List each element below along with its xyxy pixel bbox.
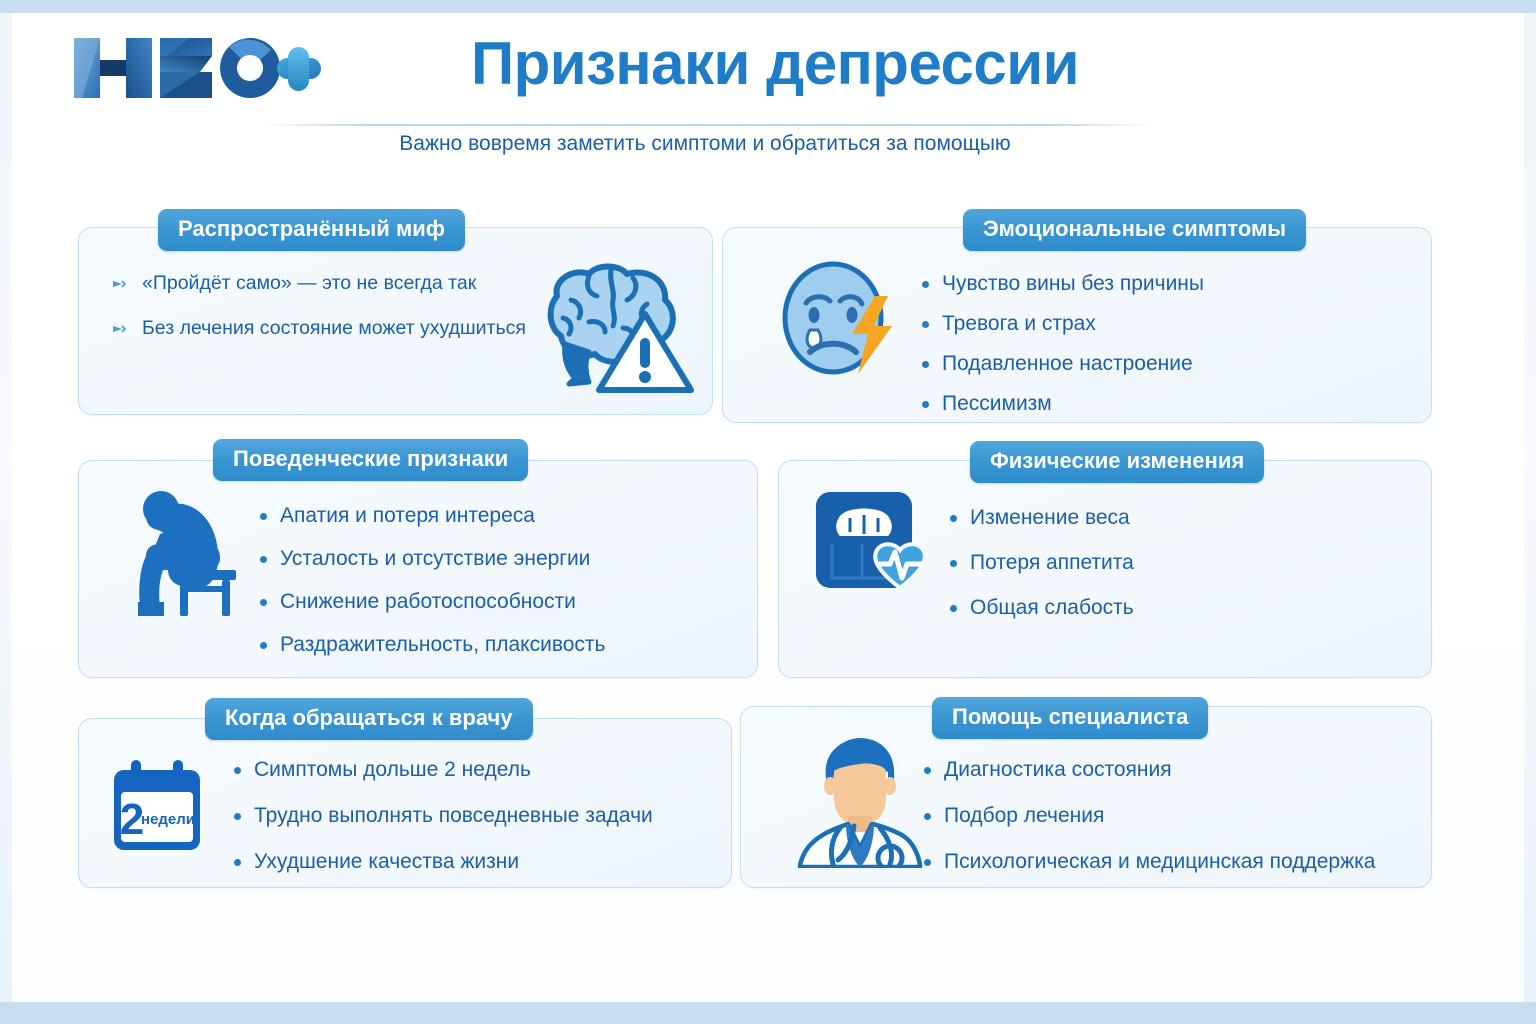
bullet-dot-icon xyxy=(922,361,929,368)
card-emotional-icon xyxy=(780,256,900,386)
bullet-dot-icon xyxy=(950,515,957,522)
list-item: Общая слабость xyxy=(948,596,1134,620)
neo-plus-logo-icon xyxy=(72,32,322,104)
list-item-text: Трудно выполнять повседневные задачи xyxy=(254,804,653,827)
bullet-dot-icon xyxy=(924,859,931,866)
bullet-dot-icon xyxy=(234,859,241,866)
brain-warning-icon xyxy=(527,256,697,396)
card-myth-badge: Распространённый миф xyxy=(158,209,465,251)
list-item-text: Усталость и отсутствие энергии xyxy=(280,547,590,570)
bullet-dot-icon xyxy=(924,813,931,820)
doctor-icon xyxy=(790,736,925,868)
list-item: Пессимизм xyxy=(920,392,1204,416)
list-item-text: Апатия и потеря интереса xyxy=(280,504,535,527)
bullet-dot-icon xyxy=(234,767,241,774)
list-item-text: Раздражительность, плаксивость xyxy=(280,633,606,656)
title-divider xyxy=(262,124,1152,126)
infographic-page: Признаки депрессии Важно вовремя заметит… xyxy=(0,0,1536,1024)
list-item-text: Пессимизм xyxy=(942,392,1052,415)
top-band xyxy=(0,0,1536,13)
bullet-dot-icon xyxy=(922,321,929,328)
list-item: Раздражительность, плаксивость xyxy=(258,633,606,657)
list-item: Снижение работоспособности xyxy=(258,590,606,614)
card-when-to-see-doctor-icon: 2 недели xyxy=(104,758,214,863)
calendar-unit: недели xyxy=(141,811,195,828)
right-band xyxy=(1524,13,1536,1002)
list-item: Усталость и отсутствие энергии xyxy=(258,547,606,571)
list-item-text: Изменение веса xyxy=(970,506,1130,529)
list-item: Апатия и потеря интереса xyxy=(258,504,606,528)
bullet-dot-icon xyxy=(234,813,241,820)
card-physical-icon xyxy=(812,488,942,615)
card-emotional-badge: Эмоциональные симптомы xyxy=(963,209,1306,251)
sitting-person-icon xyxy=(130,482,240,617)
left-band xyxy=(0,13,12,1002)
card-myth-bullets: «Пройдёт само» — это не всегда так Без л… xyxy=(112,272,526,340)
bottom-band xyxy=(0,1002,1536,1024)
list-item: Диагностика состояния xyxy=(922,758,1375,782)
list-item: Подавленное настроение xyxy=(920,352,1204,376)
sad-face-lightning-icon xyxy=(780,256,900,381)
card-emotional-bullets: Чувство вины без причины Тревога и страх… xyxy=(920,272,1204,416)
list-item: «Пройдёт само» — это не всегда так xyxy=(112,272,526,295)
scale-heart-icon xyxy=(812,488,942,610)
list-item-text: Тревога и страх xyxy=(942,312,1096,335)
card-behavioral-bullets: Апатия и потеря интереса Усталость и отс… xyxy=(258,504,606,657)
bullet-dot-icon xyxy=(922,281,929,288)
card-behavioral-badge: Поведенческие признаки xyxy=(213,439,528,481)
bullet-dot-icon xyxy=(922,401,929,408)
card-specialist-help-bullets: Диагностика состояния Подбор лечения Пси… xyxy=(922,758,1375,874)
card-physical-bullets: Изменение веса Потеря аппетита Общая сла… xyxy=(948,506,1134,620)
card-when-to-see-doctor-bullets: Симптомы дольше 2 недель Трудно выполнят… xyxy=(232,758,653,874)
list-item: Подбор лечения xyxy=(922,804,1375,828)
list-item-text: Психологическая и медицинская поддержка xyxy=(944,850,1375,873)
list-item-text: Без лечения состояние может ухудшиться xyxy=(142,317,526,339)
page-title: Признаки депрессии xyxy=(380,32,1170,95)
list-item-text: Диагностика состояния xyxy=(944,758,1172,781)
list-item-text: Ухудшение качества жизни xyxy=(254,850,519,873)
bullet-dot-icon xyxy=(260,599,267,606)
list-item: Потеря аппетита xyxy=(948,551,1134,575)
brand-logo xyxy=(72,32,322,104)
list-item: Тревога и страх xyxy=(920,312,1204,336)
list-item-text: Симптомы дольше 2 недель xyxy=(254,758,531,781)
card-physical-badge: Физические изменения xyxy=(970,441,1264,483)
bullet-dot-icon xyxy=(950,605,957,612)
card-specialist-help-badge: Помощь специалиста xyxy=(932,697,1208,739)
list-item: Изменение веса xyxy=(948,506,1134,530)
list-item-text: Снижение работоспособности xyxy=(280,590,576,613)
list-item-text: «Пройдёт само» — это не всегда так xyxy=(142,272,476,294)
bullet-dot-icon xyxy=(950,560,957,567)
page-subtitle: Важно вовремя заметить симптоми и обрати… xyxy=(290,132,1120,156)
list-item-text: Чувство вины без причины xyxy=(942,272,1204,295)
list-item-text: Общая слабость xyxy=(970,596,1134,619)
card-specialist-help-icon xyxy=(790,736,925,873)
card-when-to-see-doctor-badge: Когда обращаться к врачу xyxy=(205,698,533,740)
list-item: Чувство вины без причины xyxy=(920,272,1204,296)
card-behavioral-icon xyxy=(130,482,240,622)
list-item-text: Подавленное настроение xyxy=(942,352,1193,375)
bullet-dot-icon xyxy=(260,556,267,563)
list-item-text: Потеря аппетита xyxy=(970,551,1134,574)
list-item: Симптомы дольше 2 недель xyxy=(232,758,653,782)
list-item: Психологическая и медицинская поддержка xyxy=(922,850,1375,874)
calendar-icon: 2 недели xyxy=(104,758,214,858)
bullet-dot-icon xyxy=(260,642,267,649)
list-item: Ухудшение качества жизни xyxy=(232,850,653,874)
list-item: Трудно выполнять повседневные задачи xyxy=(232,804,653,828)
list-item: Без лечения состояние может ухудшиться xyxy=(112,317,526,340)
bullet-dot-icon xyxy=(924,767,931,774)
bullet-dot-icon xyxy=(260,513,267,520)
list-item-text: Подбор лечения xyxy=(944,804,1104,827)
card-myth-icon xyxy=(527,256,697,401)
